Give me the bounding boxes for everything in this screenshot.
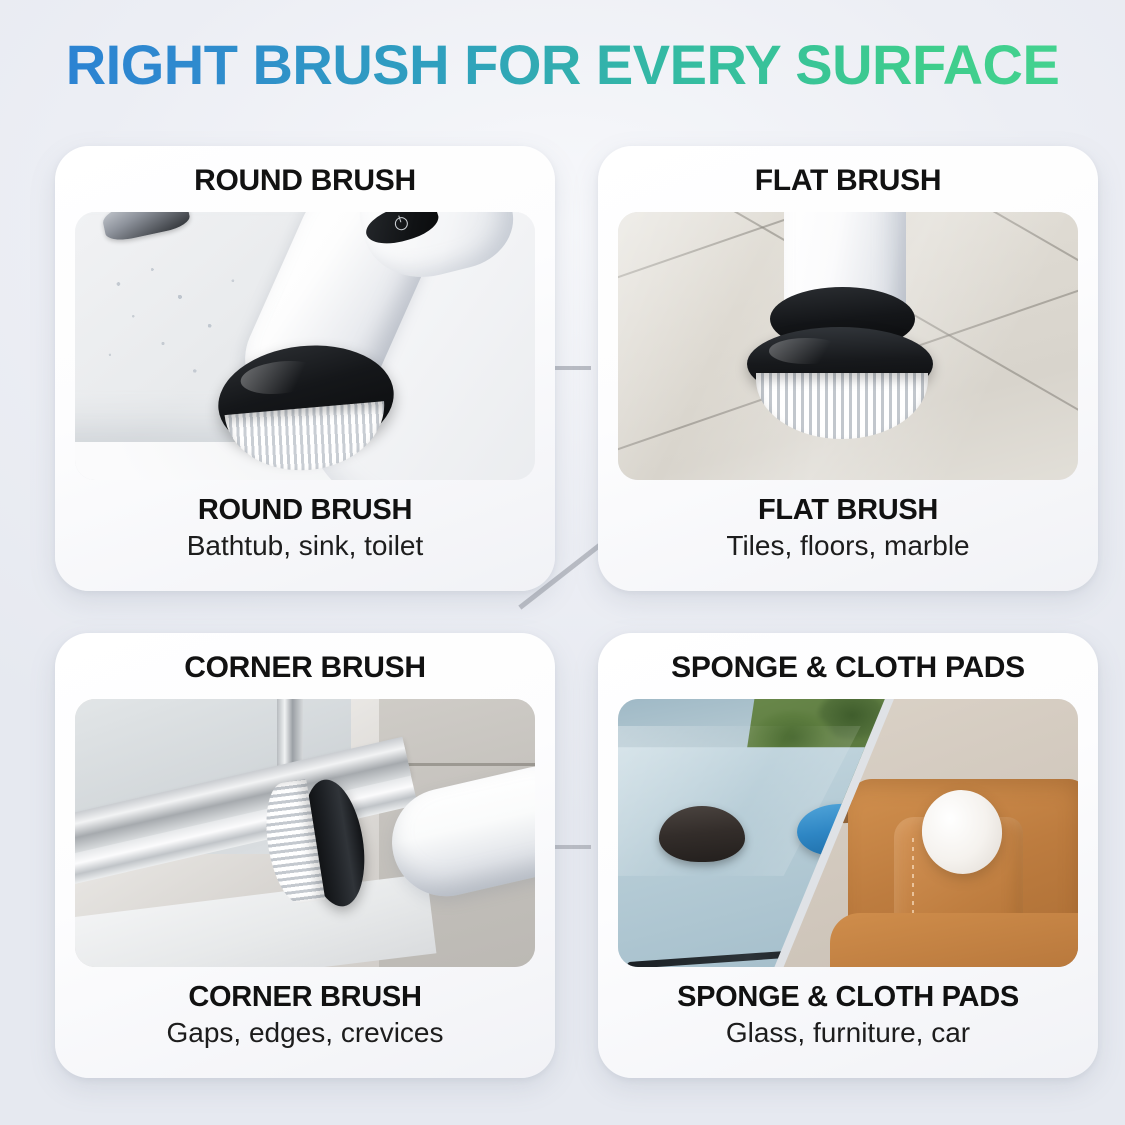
power-symbol-icon xyxy=(393,215,409,231)
card-header-round-brush: ROUND BRUSH xyxy=(194,164,416,198)
photo-corner-brush xyxy=(75,699,535,967)
card-sponge-cloth-pads[interactable]: SPONGE & CLOTH PADS xyxy=(598,633,1098,1078)
card-round-brush[interactable]: ROUND BRUSH ROUND BRUSH Bathtub, sin xyxy=(55,146,555,591)
page-title: RIGHT BRUSH FOR EVERY SURFACE xyxy=(0,36,1125,95)
power-button-icon xyxy=(534,810,535,858)
caption-corner-brush: CORNER BRUSH Gaps, edges, crevices xyxy=(166,981,443,1050)
caption-round-brush: ROUND BRUSH Bathtub, sink, toilet xyxy=(187,494,424,563)
caption-subtitle: Tiles, floors, marble xyxy=(726,530,969,562)
caption-flat-brush: FLAT BRUSH Tiles, floors, marble xyxy=(726,494,969,563)
card-flat-brush[interactable]: FLAT BRUSH FLAT BRUSH Tiles, floors, mar… xyxy=(598,146,1098,591)
card-grid: ROUND BRUSH ROUND BRUSH Bathtub, sin xyxy=(0,140,1125,1125)
caption-title: SPONGE & CLOTH PADS xyxy=(677,981,1019,1014)
photo-flat-brush xyxy=(618,212,1078,480)
caption-subtitle: Glass, furniture, car xyxy=(677,1017,1019,1049)
card-header-flat-brush: FLAT BRUSH xyxy=(755,164,941,198)
caption-subtitle: Bathtub, sink, toilet xyxy=(187,530,424,562)
split-photo xyxy=(618,699,1078,967)
card-header-corner-brush: CORNER BRUSH xyxy=(184,651,425,685)
photo-round-brush xyxy=(75,212,535,480)
caption-subtitle: Gaps, edges, crevices xyxy=(166,1017,443,1049)
black-sponge-pad xyxy=(659,806,745,862)
sofa-seat xyxy=(830,913,1078,967)
caption-title: CORNER BRUSH xyxy=(166,981,443,1014)
card-corner-brush[interactable]: CORNER BRUSH CORNER BRUSH xyxy=(55,633,555,1078)
card-header-sponge-cloth-pads: SPONGE & CLOTH PADS xyxy=(671,651,1025,685)
tub-ledge xyxy=(75,874,437,967)
caption-sponge-cloth-pads: SPONGE & CLOTH PADS Glass, furniture, ca… xyxy=(677,981,1019,1050)
photo-sponge-cloth-pads xyxy=(618,699,1078,967)
infographic-page: RIGHT BRUSH FOR EVERY SURFACE ROUND BRUS… xyxy=(0,0,1125,1125)
caption-title: FLAT BRUSH xyxy=(726,494,969,527)
caption-title: ROUND BRUSH xyxy=(187,494,424,527)
